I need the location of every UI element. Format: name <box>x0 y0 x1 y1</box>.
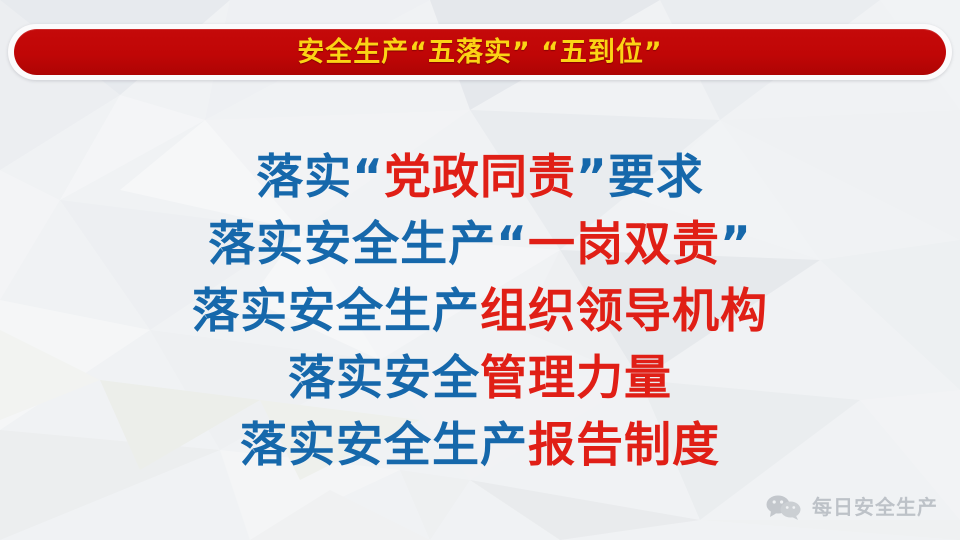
content-lines: 落实“党政同责”要求 落实安全生产“一岗双责” 落实安全生产组织领导机构 落实安… <box>0 144 960 479</box>
line-1-open-quote: “ <box>352 150 384 205</box>
line-1-close-quote: ” <box>576 150 608 205</box>
wechat-icon <box>765 494 803 520</box>
content-line-4: 落实安全管理力量 <box>0 345 960 412</box>
line-2-highlight: 一岗双责 <box>528 217 720 272</box>
content-line-5: 落实安全生产报告制度 <box>0 412 960 479</box>
line-1-highlight: 党政同责 <box>384 150 576 205</box>
line-3-highlight: 组织领导机构 <box>480 284 768 339</box>
line-2-open-quote: “ <box>496 217 528 272</box>
line-4-segment-1: 落实安全 <box>288 351 480 406</box>
title-banner-frame: 安全生产“五落实” “五到位” <box>8 24 952 80</box>
line-2-close-quote: ” <box>720 217 752 272</box>
content-line-3: 落实安全生产组织领导机构 <box>0 278 960 345</box>
line-2-segment-1: 落实安全生产 <box>208 217 496 272</box>
line-4-highlight: 管理力量 <box>480 351 672 406</box>
watermark-label: 每日安全生产 <box>812 497 938 517</box>
watermark: 每日安全生产 <box>765 494 938 520</box>
line-3-segment-1: 落实安全生产 <box>192 284 480 339</box>
title-banner: 安全生产“五落实” “五到位” <box>14 29 946 75</box>
page-title: 安全生产“五落实” “五到位” <box>297 39 662 66</box>
content-line-1: 落实“党政同责”要求 <box>0 144 960 211</box>
line-1-segment-1: 落实 <box>256 150 352 205</box>
slide-canvas: 安全生产“五落实” “五到位” 落实“党政同责”要求 落实安全生产“一岗双责” … <box>0 0 960 540</box>
content-line-2: 落实安全生产“一岗双责” <box>0 211 960 278</box>
line-1-segment-5: 要求 <box>608 150 704 205</box>
line-5-segment-1: 落实安全生产 <box>240 418 528 473</box>
line-5-highlight: 报告制度 <box>528 418 720 473</box>
